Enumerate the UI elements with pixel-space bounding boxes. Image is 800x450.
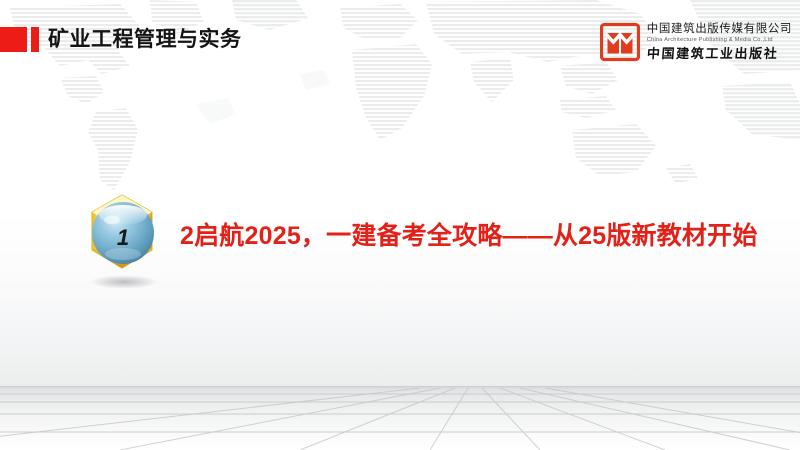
perspective-floor xyxy=(0,386,800,450)
publisher-logo: 中国建筑出版传媒有限公司 China Architecture Publishi… xyxy=(600,22,792,62)
section-number-badge: 1 xyxy=(66,184,178,288)
header-red-bar xyxy=(31,27,39,52)
publisher-press-cn: 中国建筑工业出版社 xyxy=(646,47,792,60)
publisher-logo-text: 中国建筑出版传媒有限公司 China Architecture Publishi… xyxy=(647,24,792,60)
publisher-company-en: China Architecture Publishing & Media Co… xyxy=(647,38,792,44)
presentation-slide: 矿业工程管理与实务 中国建筑出版传媒有限公司 China Architectur… xyxy=(0,0,800,450)
publisher-company-cn: 中国建筑出版传媒有限公司 xyxy=(647,24,792,36)
headline-text: 2启航2025，一建备考全攻略——从25版新教材开始 xyxy=(180,219,758,253)
open-book-logo-icon xyxy=(600,22,640,62)
floor-horizon-line xyxy=(0,386,800,388)
page-title: 矿业工程管理与实务 xyxy=(48,26,242,53)
header-red-block xyxy=(0,27,27,52)
